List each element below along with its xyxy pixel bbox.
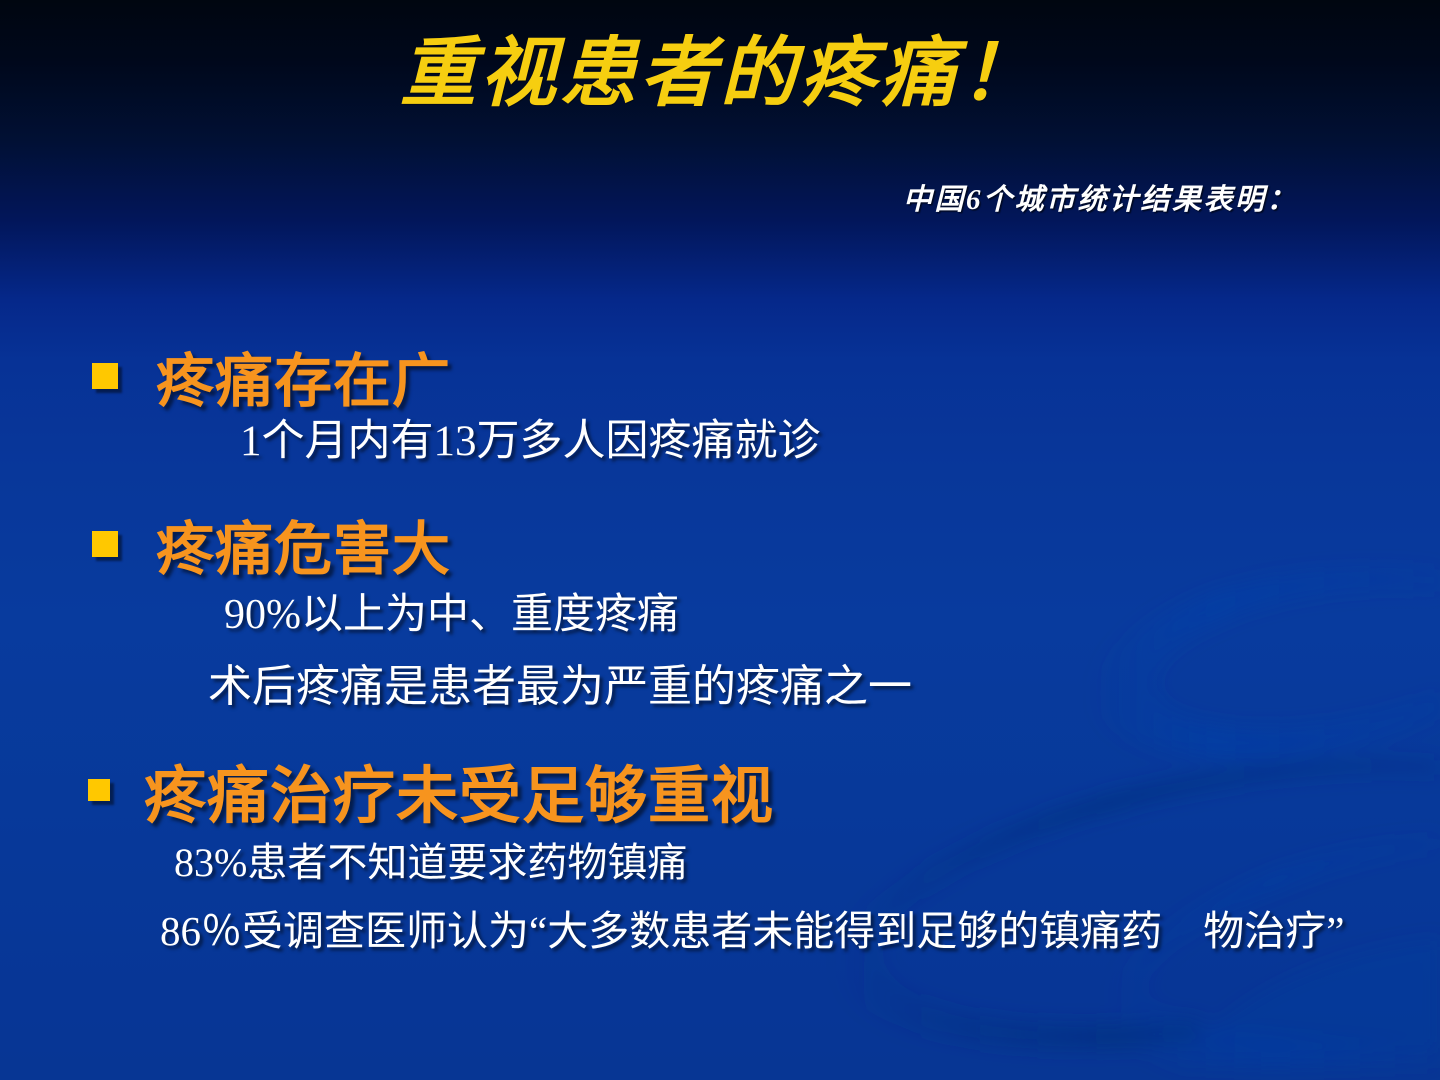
bullet-item-2-subline-2: 术后疼痛是患者最为严重的疼痛之一: [208, 650, 912, 714]
bullet-item-3-subline-1: 83%患者不知道要求药物镇痛: [174, 830, 687, 888]
bullet-item-3-heading: 疼痛治疗未受足够重视: [144, 745, 774, 835]
filled-square-bullet-icon: [92, 363, 118, 389]
filled-square-bullet-icon: [88, 779, 110, 801]
presentation-slide: 重视患者的疼痛！ 中国6个城市统计结果表明： 疼痛存在广 1个月内有13万多人因…: [0, 0, 1440, 1080]
filled-square-bullet-icon: [92, 531, 118, 557]
bullet-item-3-subline-2: 86％受调查医师认为“大多数患者未能得到足够的镇痛药 物治疗”: [160, 904, 1440, 958]
bullet-item-3: 疼痛治疗未受足够重视: [88, 745, 774, 835]
bullet-item-1-subline-1: 1个月内有13万多人因疼痛就诊: [240, 406, 821, 468]
slide-body: 疼痛存在广 1个月内有13万多人因疼痛就诊 疼痛危害大 90%以上为中、重度疼痛…: [0, 0, 1440, 1080]
bullet-item-2-subline-1: 90%以上为中、重度疼痛: [224, 580, 679, 641]
bullet-item-2-heading: 疼痛危害大: [156, 502, 451, 586]
bullet-item-2: 疼痛危害大: [92, 502, 451, 586]
slide-subtitle: 中国6个城市统计结果表明：: [0, 176, 1298, 218]
slide-title: 重视患者的疼痛！: [0, 34, 1440, 112]
